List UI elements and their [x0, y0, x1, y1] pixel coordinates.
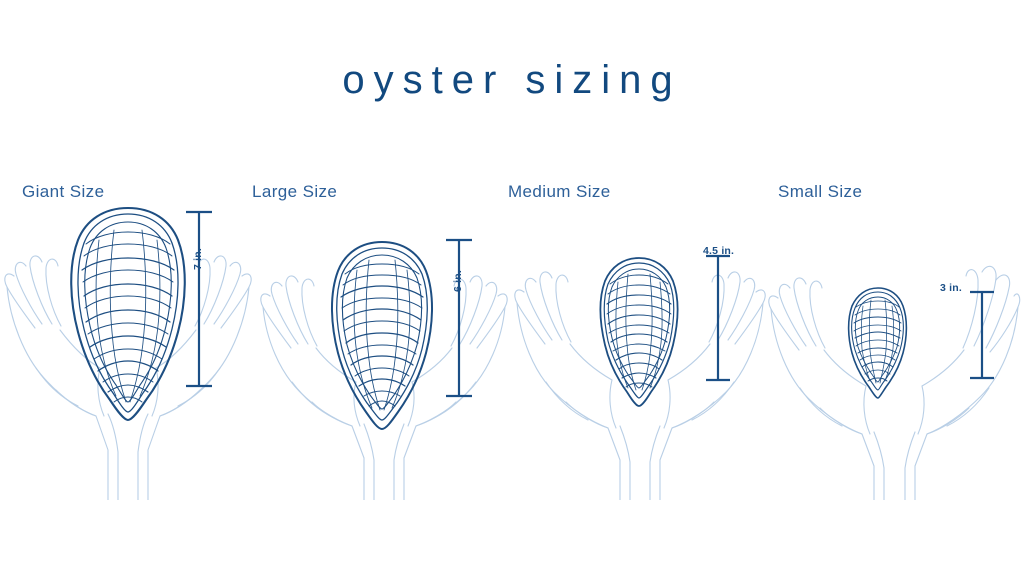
- measurement-ruler-icon: [186, 212, 212, 386]
- infographic-canvas: oyster sizing Giant Size: [0, 0, 1024, 576]
- size-panel-large: Large Size: [256, 170, 512, 500]
- illustration-medium: [512, 170, 768, 500]
- measurement-label: 4.5 in.: [703, 245, 734, 257]
- oyster-shell-icon: [849, 288, 907, 398]
- measurement-label: 3 in.: [940, 282, 962, 294]
- illustration-large: [256, 170, 512, 500]
- size-panel-small: Small Size: [768, 170, 1024, 500]
- cupped-hands-icon: [650, 272, 765, 500]
- size-panel-medium: Medium Size: [512, 170, 768, 500]
- cupped-hands-icon: [394, 276, 507, 500]
- illustration-small: [768, 170, 1024, 500]
- cupped-hands-icon: [769, 278, 884, 500]
- measurement-label: 7 in.: [192, 248, 204, 270]
- measurement-ruler-icon: [446, 240, 472, 396]
- oyster-shell-icon: [71, 208, 185, 420]
- measurement-ruler-icon: [706, 256, 730, 380]
- size-panel-giant: Giant Size: [0, 170, 256, 500]
- oyster-shell-icon: [332, 242, 432, 429]
- cupped-hands-icon: [515, 272, 630, 500]
- cupped-hands-icon: [905, 266, 1020, 500]
- cupped-hands-icon: [138, 256, 251, 500]
- cupped-hands-icon: [5, 256, 118, 500]
- page-title: oyster sizing: [0, 58, 1024, 103]
- illustration-giant: [0, 170, 256, 500]
- measurement-label: 6 in.: [452, 270, 464, 292]
- oyster-shell-icon: [600, 258, 677, 406]
